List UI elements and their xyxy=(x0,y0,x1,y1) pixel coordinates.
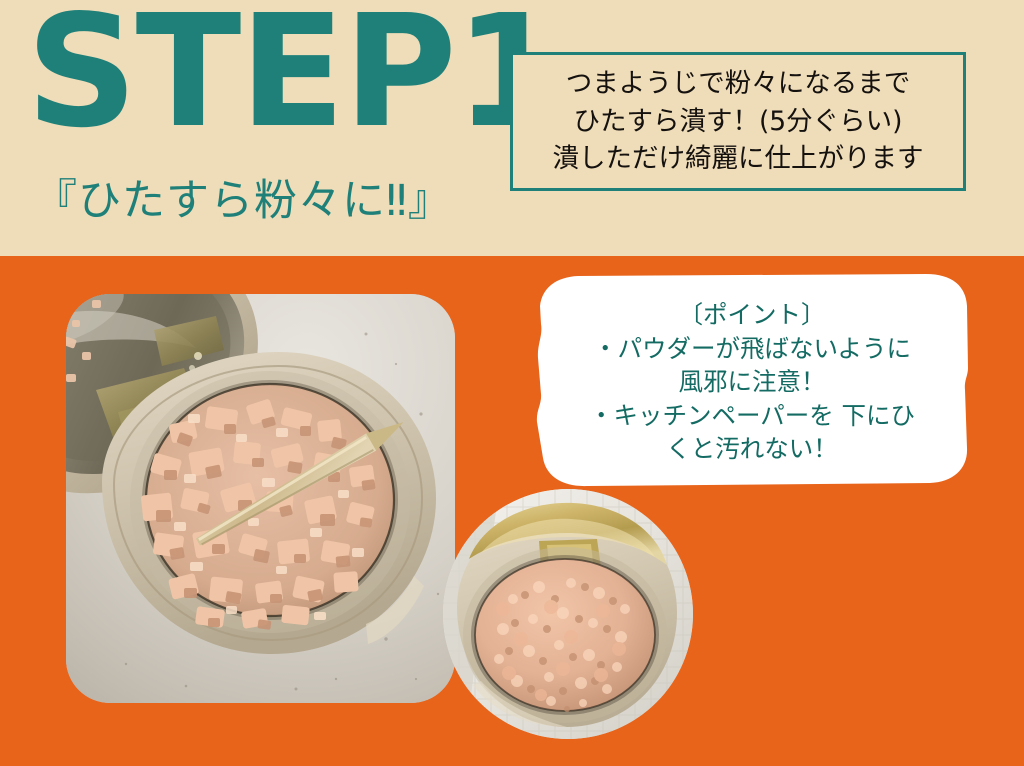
instruction-line: ひたすら潰す！(5分ぐらい) xyxy=(573,103,902,141)
instruction-line: つまようじで粉々になるまで xyxy=(566,65,911,103)
point-bubble-line: ・キッチンペーパーを 下にひ xyxy=(589,399,915,433)
page-title: STEP1 xyxy=(26,0,561,149)
photo-main-crushed-powder-compact xyxy=(66,294,455,703)
instruction-box: つまようじで粉々になるまで ひたすら潰す！(5分ぐらい) 潰しただけ綺麗に仕上が… xyxy=(510,52,966,191)
point-bubble: 〔ポイント〕 ・パウダーが飛ばないように 風邪に注意！ ・キッチンペーパーを 下… xyxy=(534,272,970,490)
point-bubble-content: 〔ポイント〕 ・パウダーが飛ばないように 風邪に注意！ ・キッチンペーパーを 下… xyxy=(534,272,970,490)
photo-inset-fine-powder-compact xyxy=(443,489,693,739)
page-subtitle: 『ひたすら粉々に‼』 xyxy=(34,180,452,223)
point-bubble-line: ・パウダーが飛ばないように xyxy=(593,332,911,366)
poster-canvas: STEP1 『ひたすら粉々に‼』 つまようじで粉々になるまで ひたすら潰す！(5… xyxy=(0,0,1024,766)
instruction-line: 潰しただけ綺麗に仕上がります xyxy=(553,140,924,178)
point-bubble-line: 風邪に注意！ xyxy=(679,365,826,399)
point-bubble-line: くと汚れない！ xyxy=(666,432,838,466)
point-bubble-heading: 〔ポイント〕 xyxy=(679,298,826,332)
